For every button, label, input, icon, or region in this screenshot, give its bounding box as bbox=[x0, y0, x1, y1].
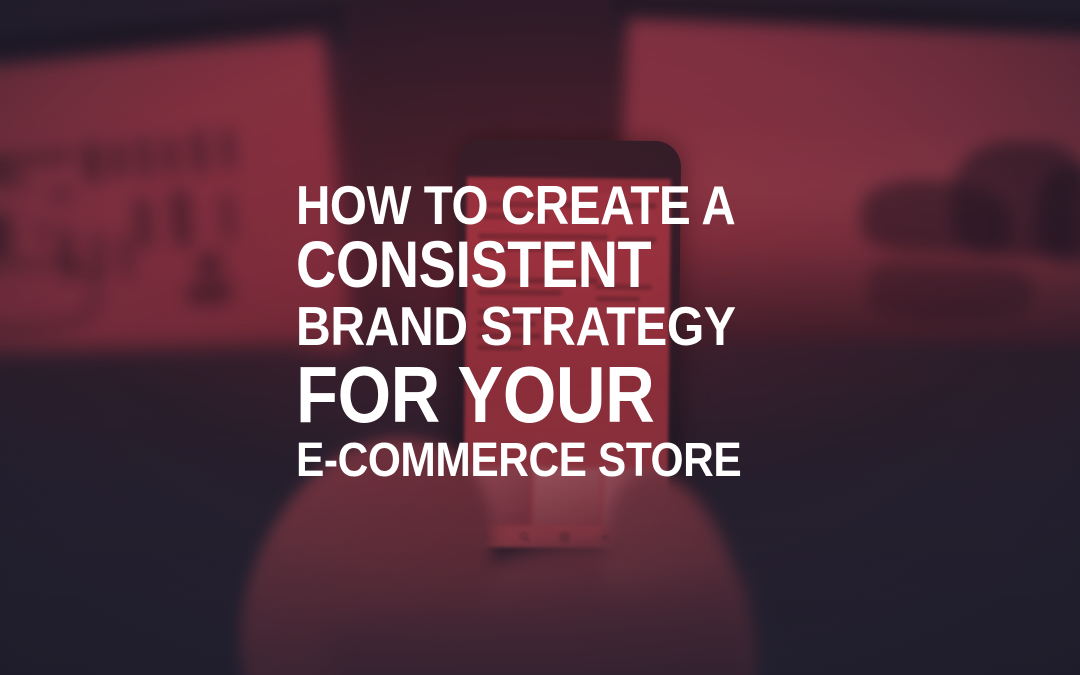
headline-line-1: HOW TO CREATE A bbox=[296, 178, 746, 232]
featured-image-canvas: HOW TO CREATE A CONSISTENT BRAND STRATEG… bbox=[0, 0, 1080, 675]
headline-line-3: BRAND STRATEGY bbox=[296, 297, 751, 355]
headline: HOW TO CREATE A CONSISTENT BRAND STRATEG… bbox=[296, 178, 816, 487]
headline-line-5: E-COMMERCE STORE bbox=[296, 435, 756, 487]
headline-line-2: CONSISTENT bbox=[296, 232, 735, 297]
headline-line-4: FOR YOUR bbox=[296, 355, 743, 435]
